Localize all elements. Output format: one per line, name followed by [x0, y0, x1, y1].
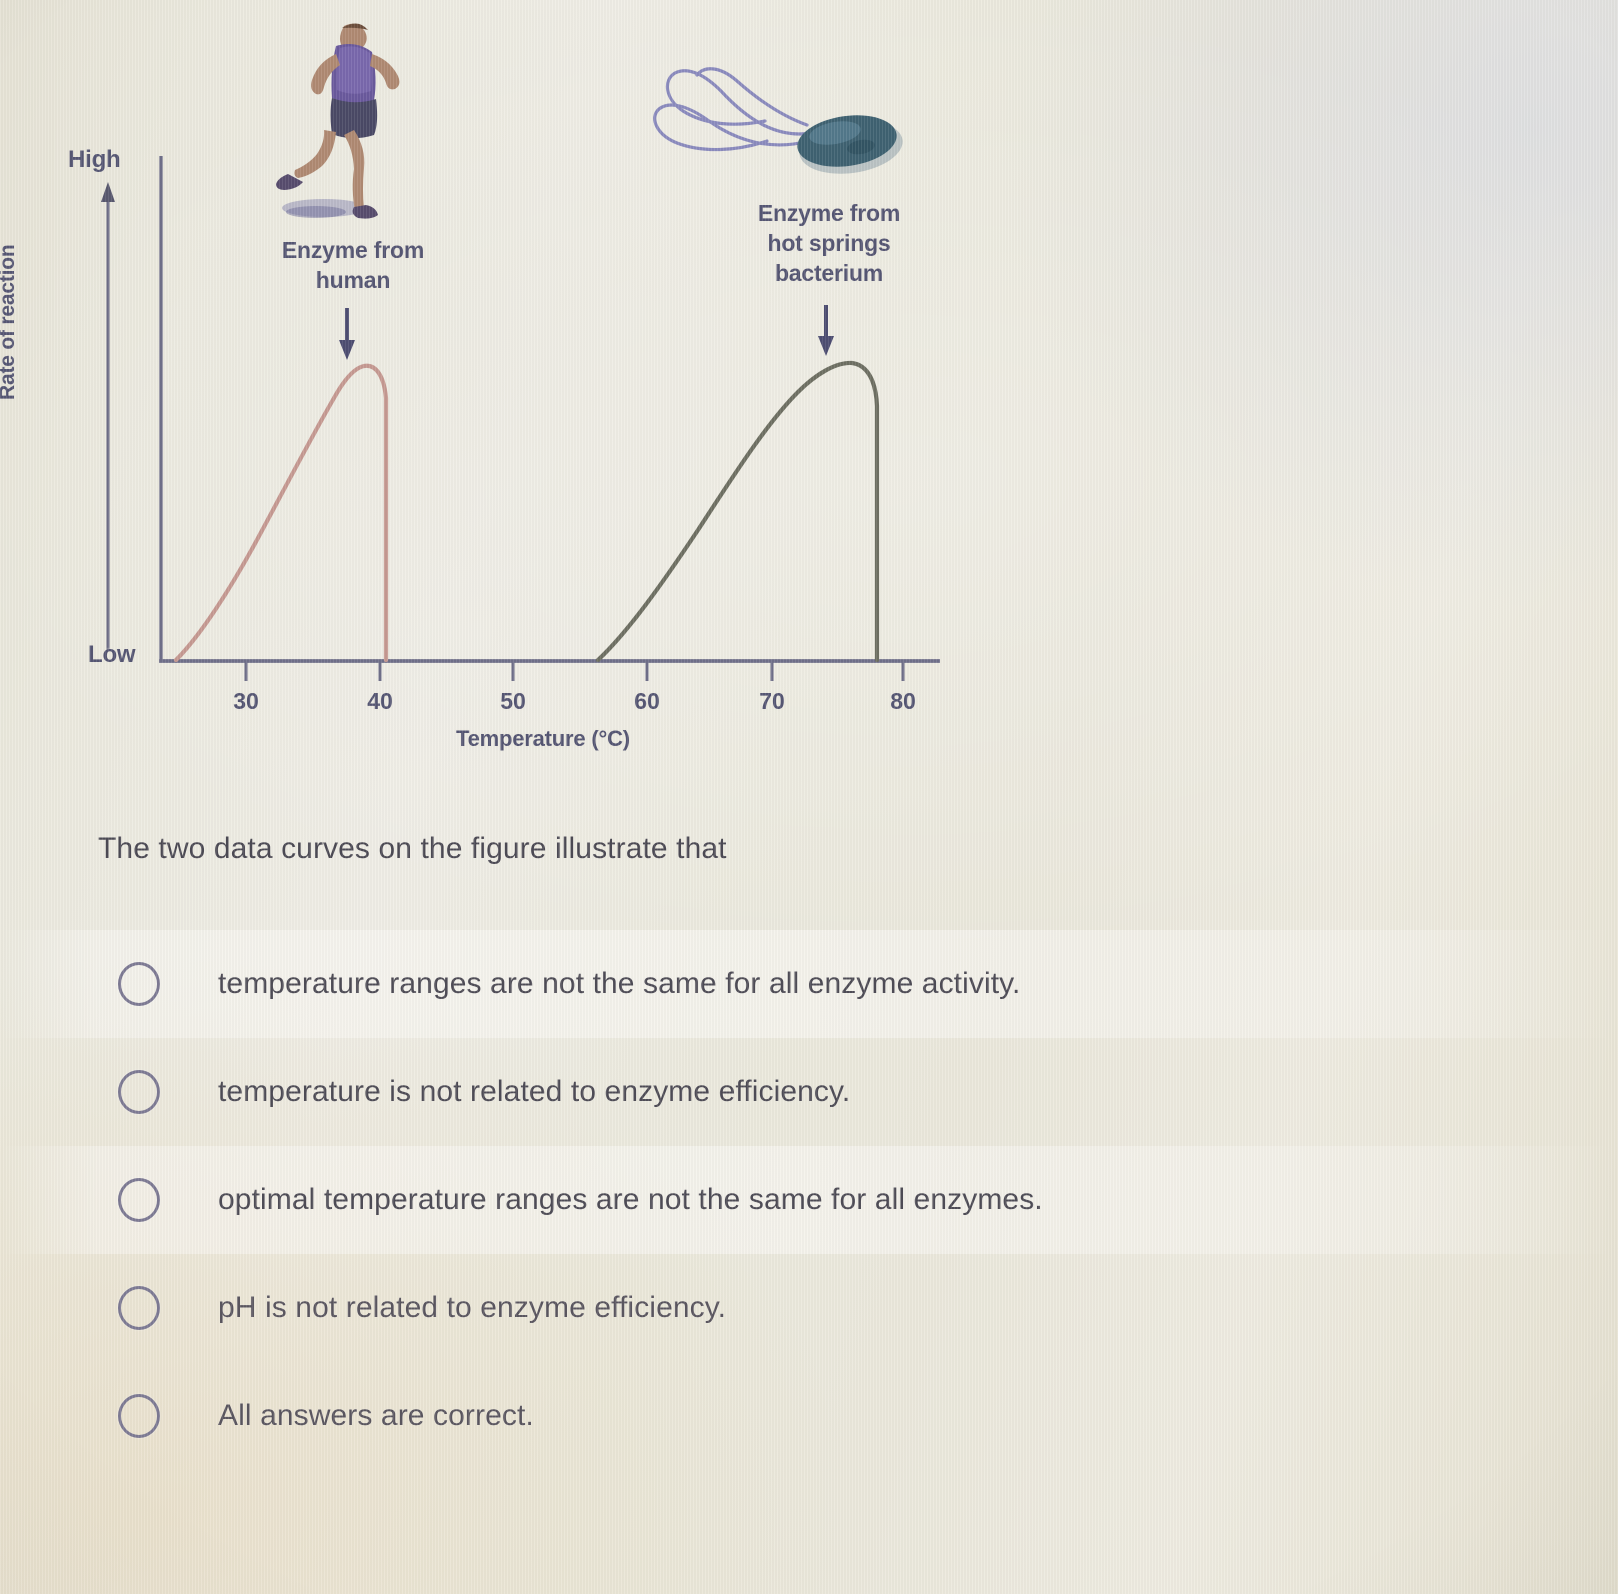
enzyme-temperature-figure: High Low Rate of reaction Enzyme from hu…: [0, 0, 1010, 800]
answer-option-4[interactable]: pH is not related to enzyme efficiency.: [0, 1254, 1618, 1362]
annotation-human-line-2: human: [316, 267, 390, 293]
plot-canvas: [0, 0, 1010, 800]
answer-option-1-label: temperature ranges are not the same for …: [218, 967, 1020, 1001]
annotation-bacterium-line-2: hot springs: [767, 230, 890, 256]
radio-button-option-3[interactable]: [118, 1178, 160, 1222]
y-axis-low-label: Low: [88, 641, 135, 669]
down-arrow-icon: [339, 308, 355, 360]
radio-button-option-4[interactable]: [118, 1286, 160, 1330]
annotation-enzyme-human: Enzyme from human: [258, 235, 448, 295]
question-page: High Low Rate of reaction Enzyme from hu…: [0, 0, 1618, 1594]
radio-button-option-2[interactable]: [118, 1070, 160, 1114]
down-arrow-icon: [818, 305, 834, 356]
question-stem: The two data curves on the figure illust…: [98, 832, 727, 866]
answer-option-3[interactable]: optimal temperature ranges are not the s…: [0, 1146, 1618, 1254]
x-tick-label-40: 40: [350, 688, 410, 715]
annotation-enzyme-bacterium: Enzyme from hot springs bacterium: [730, 198, 928, 288]
radio-button-option-5[interactable]: [118, 1394, 160, 1438]
annotation-bacterium-line-1: Enzyme from: [758, 200, 900, 226]
answer-option-1[interactable]: temperature ranges are not the same for …: [0, 930, 1618, 1038]
curve-enzyme-bacterium: [598, 363, 877, 660]
answer-option-3-label: optimal temperature ranges are not the s…: [218, 1183, 1043, 1217]
x-axis-title: Temperature (°C): [456, 726, 630, 752]
answer-option-5[interactable]: All answers are correct.: [0, 1362, 1618, 1470]
x-axis-ticks: [246, 661, 903, 681]
answer-option-4-label: pH is not related to enzyme efficiency.: [218, 1291, 726, 1325]
answer-option-5-label: All answers are correct.: [218, 1399, 534, 1433]
y-axis-title: Rate of reaction: [0, 245, 20, 401]
x-tick-label-50: 50: [483, 688, 543, 715]
answer-option-2-label: temperature is not related to enzyme eff…: [218, 1075, 850, 1109]
curve-enzyme-human: [176, 366, 386, 660]
annotation-human-line-1: Enzyme from: [282, 237, 424, 263]
annotation-bacterium-line-3: bacterium: [775, 260, 883, 286]
x-tick-label-70: 70: [742, 688, 802, 715]
answer-option-2[interactable]: temperature is not related to enzyme eff…: [0, 1038, 1618, 1146]
up-arrow-icon: [101, 182, 115, 650]
radio-button-option-1[interactable]: [118, 962, 160, 1006]
x-tick-label-30: 30: [216, 688, 276, 715]
x-tick-label-60: 60: [617, 688, 677, 715]
x-tick-label-80: 80: [873, 688, 933, 715]
answer-options-list: temperature ranges are not the same for …: [0, 930, 1618, 1470]
y-axis-high-label: High: [68, 146, 121, 174]
